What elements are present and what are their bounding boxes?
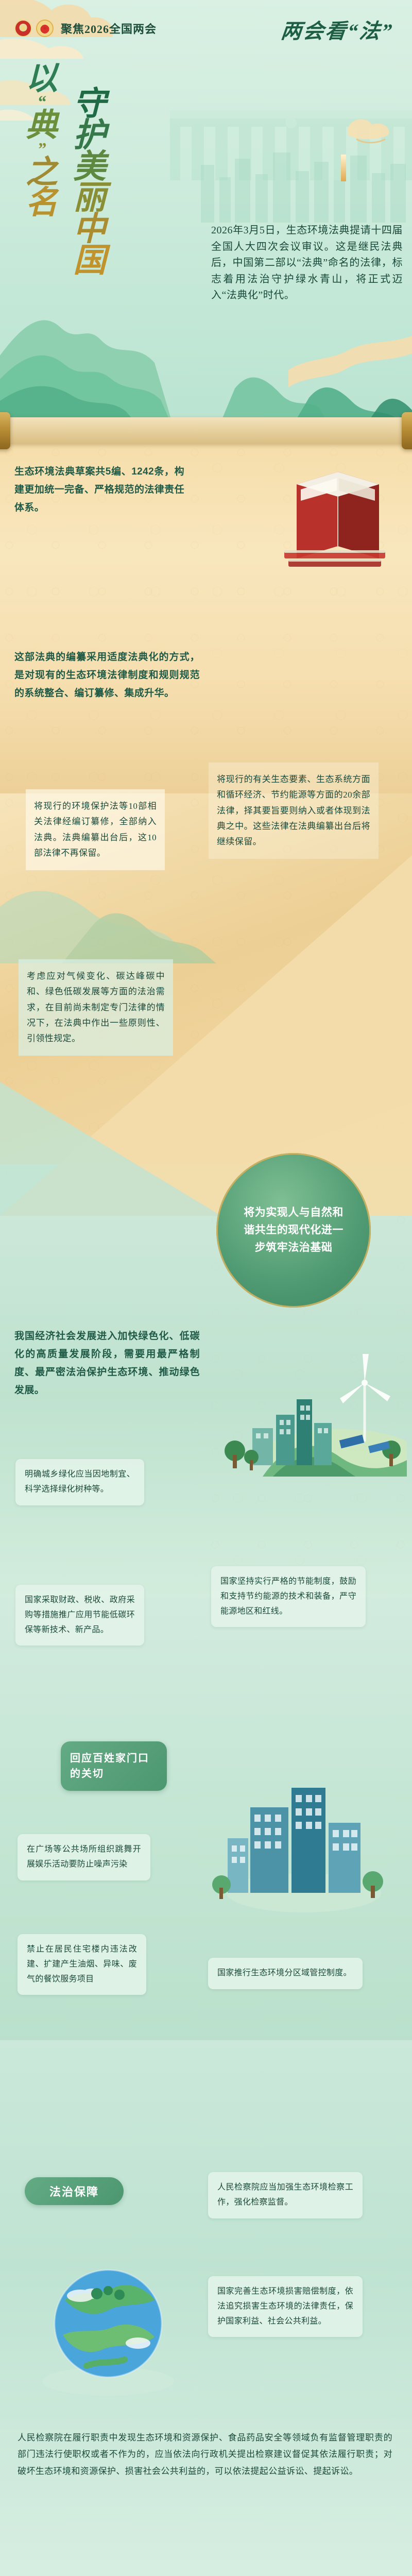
highlight-callout-text: 将为实现人与自然和谐共生的现代化进一步筑牢法治基础 (239, 1204, 348, 1257)
national-emblem-icon (14, 20, 32, 37)
intro-paragraph: 2026年3月5日，生态环境法典提请十四届全国人大四次会议审议。这是继民法典后，… (211, 223, 403, 304)
law-books-illustration (276, 453, 405, 572)
title-char: 以 (26, 64, 58, 94)
card-noise-pollution: 在广场等公共场所组织跳舞开展娱乐活动要防止噪声污染 (18, 1834, 150, 1880)
title-char: 典 (26, 111, 58, 141)
card-urban-greening: 明确城乡绿化应当因地制宜、科学选择绿化树种等。 (15, 1459, 144, 1505)
footer-paragraph: 人民检察院在履行职责中发现生态环境和资源保护、食品药品安全等领域负有监督管理职责… (18, 2430, 392, 2480)
title-char: 中 (73, 214, 106, 245)
card-fiscal-measures: 国家采取财政、税收、政府采购等措施推广应用节能低碳环保等新技术、新产品。 (15, 1585, 144, 1646)
draft-scope-text: 生态环境法典草案共5编、1242条，构建更加统一完备、严格规范的法律责任体系。 (14, 463, 184, 517)
focus-label: 聚焦2026全国两会 (61, 20, 157, 37)
highlight-callout-oval: 将为实现人与自然和谐共生的现代化进一步筑牢法治基础 (216, 1153, 371, 1308)
card-energy-conservation: 国家坚持实行严格的节能制度，鼓励和支持节约能源的技术和装备，严守能源地区和红线。 (211, 1566, 366, 1627)
banner-public-concerns: 回应百姓家门口的关切 (61, 1741, 167, 1791)
compilation-text: 这部法典的编纂采用适度法典化的方式，是对现有的生态环境法律制度和规则规范的系统整… (14, 648, 200, 702)
page-title-column-2: 守 护 美 丽 中 国 (73, 89, 106, 277)
title-char: 丽 (73, 182, 106, 214)
card-damage-compensation: 国家完善生态环境损害赔偿制度，依法追究损害生态环境的法律责任，保护国家利益、社会… (208, 2276, 363, 2337)
card-zoning-control: 国家推行生态环境分区域管控制度。 (208, 1958, 363, 1989)
card-procuratorial-supervision: 人民检察院应当加强生态环境检察工作，强化检察监督。 (208, 2172, 363, 2218)
page-title: 以 “ 典 ” 之 名 守 护 美 丽 中 国 (11, 62, 140, 268)
card-residential-catering: 禁止在居民住宅楼内违法改建、扩建产生油烟、异味、废气的餐饮服务项目 (18, 1934, 146, 1995)
card-climate-provisions: 考虑应对气候变化、碳达峰碳中和、绿色低碳发展等方面的法治需求，在目前尚未制定专门… (19, 959, 173, 1056)
title-char: 国 (73, 245, 106, 277)
header-emblems: 聚焦2026全国两会 (14, 20, 157, 37)
card-absorbed-laws: 将现行的环境保护法等10部相关法律经编订纂修，全部纳入法典。法典编纂出台后，这1… (26, 789, 165, 870)
banner-rule-of-law: 法治保障 (25, 2177, 124, 2205)
header: 聚焦2026全国两会 两会看“法” (0, 0, 412, 62)
brand-label: 两会看“法” (280, 14, 395, 44)
card-retained-laws: 将现行的有关生态要素、生态系统方面和循环经济、节约能源等方面的20余部法律，择其… (209, 762, 379, 859)
scroll-ornament (0, 417, 412, 444)
title-char: 美 (73, 151, 106, 183)
title-char: 守 (73, 89, 106, 120)
title-char: 名 (26, 188, 58, 218)
scroll-cap-right-icon (402, 412, 412, 449)
scroll-cap-left-icon (0, 412, 10, 449)
title-char: 之 (26, 158, 58, 188)
title-char: 护 (73, 120, 106, 151)
cppcc-emblem-icon (36, 20, 54, 37)
poster-root: 聚焦2026全国两会 两会看“法” 以 “ 典 ” 之 名 守 护 美 丽 中 … (0, 0, 412, 2576)
page-title-column-1: 以 “ 典 ” 之 名 (26, 64, 58, 218)
green-economy-text: 我国经济社会发展进入加快绿色化、低碳化的高质量发展阶段，需要用最严格制度、最严密… (14, 1327, 200, 1400)
